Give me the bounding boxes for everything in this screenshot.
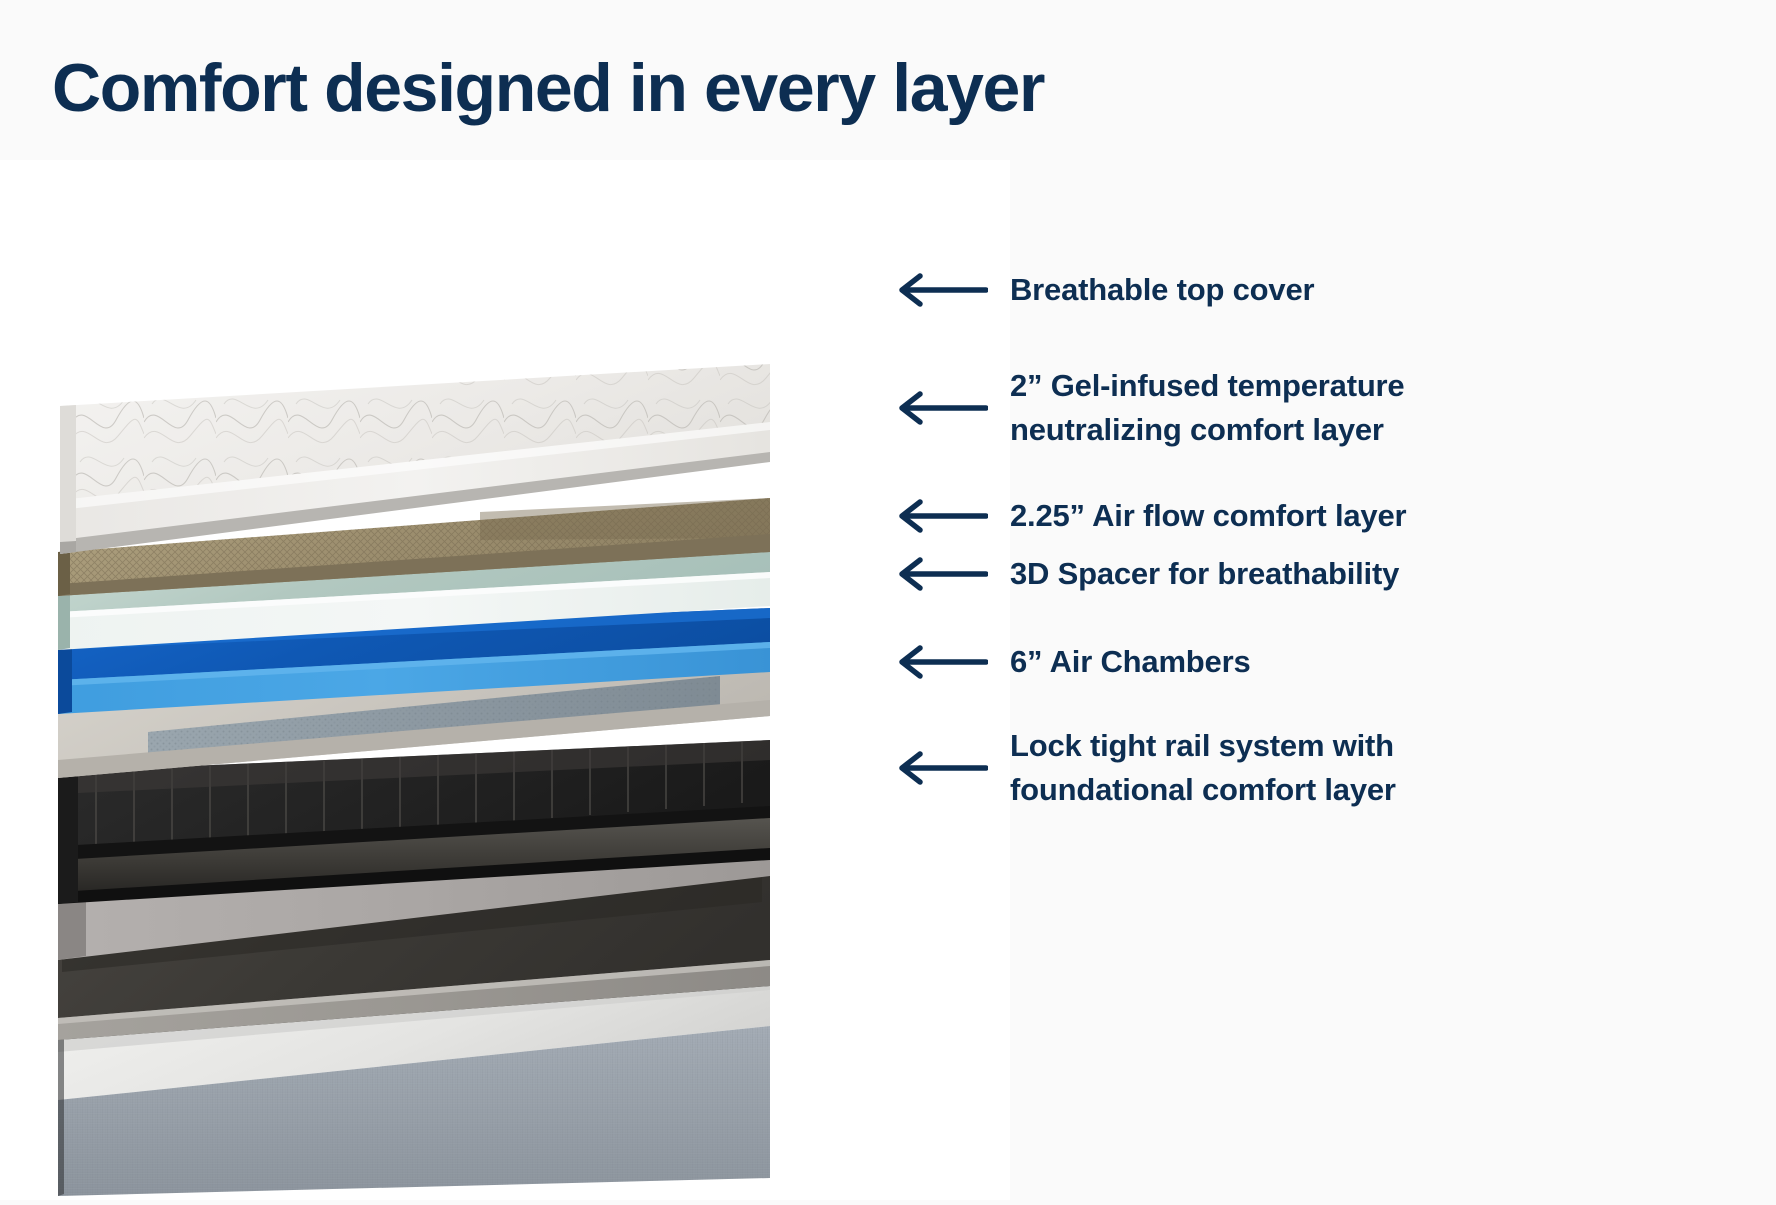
callout-label: 3D Spacer for breathability <box>1010 552 1399 596</box>
left-arrow-icon <box>890 642 988 682</box>
callout-label: Breathable top cover <box>1010 268 1314 312</box>
callout-label: 2.25” Air flow comfort layer <box>1010 494 1406 538</box>
callout-label: 6” Air Chambers <box>1010 640 1251 684</box>
callout-spacer: 3D Spacer for breathability <box>890 552 1399 596</box>
page-title: Comfort designed in every layer <box>52 52 1552 124</box>
callout-top-cover: Breathable top cover <box>890 268 1314 312</box>
infographic-stage: Comfort designed in every layer <box>0 0 1776 1200</box>
mattress-exploded-diagram <box>0 160 1010 1200</box>
layer-stack-svg <box>0 160 1010 1200</box>
callout-rail: Lock tight rail system with foundational… <box>890 724 1396 812</box>
callout-label: Lock tight rail system with foundational… <box>1010 724 1396 812</box>
callout-label: 2” Gel-infused temperature neutralizing … <box>1010 364 1404 452</box>
left-arrow-icon <box>890 270 988 310</box>
left-arrow-icon <box>890 496 988 536</box>
left-arrow-icon <box>890 388 988 428</box>
callout-airflow: 2.25” Air flow comfort layer <box>890 494 1406 538</box>
callout-gel: 2” Gel-infused temperature neutralizing … <box>890 364 1404 452</box>
left-arrow-icon <box>890 748 988 788</box>
left-arrow-icon <box>890 554 988 594</box>
callout-list: Breathable top cover 2” Gel-infused temp… <box>890 160 1776 1200</box>
callout-chambers: 6” Air Chambers <box>890 640 1251 684</box>
